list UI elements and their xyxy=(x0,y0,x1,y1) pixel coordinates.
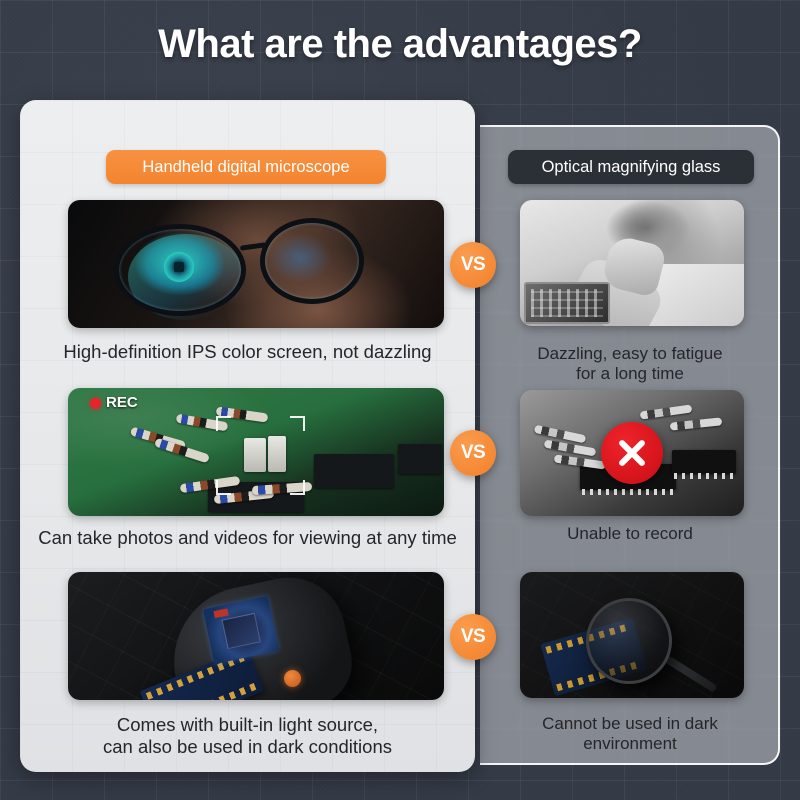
ic-chip-shape xyxy=(398,444,442,474)
vs-badge-row3: VS xyxy=(450,614,496,660)
magnifier-lens-shape xyxy=(586,598,672,684)
ic-chip-shape xyxy=(314,454,394,488)
focus-bracket-top-right-icon xyxy=(290,416,305,431)
row3-right-caption: Cannot be used in dark environment xyxy=(482,714,778,754)
row2-left-caption: Can take photos and videos for viewing a… xyxy=(20,527,475,549)
infographic-canvas: What are the advantages? Handheld digita… xyxy=(0,0,800,800)
rec-indicator-dot-icon xyxy=(90,398,101,409)
glasses-right-lens xyxy=(260,218,364,304)
row3-right-caption-line2: environment xyxy=(482,734,778,754)
resistor-shape xyxy=(670,417,723,430)
header-pill-right-label: Optical magnifying glass xyxy=(542,158,721,177)
focus-bracket-top-left-icon xyxy=(216,416,231,431)
resistor-shape xyxy=(534,425,587,444)
grayscale-circuit-board-illustration xyxy=(520,390,744,516)
header-pill-handheld-microscope: Handheld digital microscope xyxy=(106,150,386,184)
row1-right-caption: Dazzling, easy to fatigue for a long tim… xyxy=(482,344,778,384)
row1-right-image-tired-man xyxy=(520,200,744,326)
page-title: What are the advantages? xyxy=(0,22,800,67)
red-x-circle-icon xyxy=(601,422,663,484)
row3-left-image-microscope-device xyxy=(68,572,444,700)
focus-bracket-bottom-left-icon xyxy=(216,480,231,495)
row1-left-caption: High-definition IPS color screen, not da… xyxy=(20,341,475,363)
vs-badge-row1: VS xyxy=(450,242,496,288)
vs-badge-row2: VS xyxy=(450,430,496,476)
capacitor-shape xyxy=(268,436,286,472)
screen-red-component xyxy=(214,608,229,618)
magnifier-dark-illustration xyxy=(520,572,744,698)
row1-left-image-eyes-glasses xyxy=(68,200,444,328)
row1-right-caption-line2: for a long time xyxy=(482,364,778,384)
row2-right-caption: Unable to record xyxy=(482,524,778,544)
glasses-left-lens xyxy=(114,224,246,316)
row3-right-image-magnifier-dark xyxy=(520,572,744,698)
row3-left-caption: Comes with built-in light source, can al… xyxy=(20,714,475,758)
device-power-button xyxy=(284,670,301,687)
header-pill-left-label: Handheld digital microscope xyxy=(142,158,349,177)
row2-left-image-green-pcb: REC xyxy=(68,388,444,516)
eyes-with-glasses-illustration xyxy=(68,200,444,328)
header-pill-optical-magnifier: Optical magnifying glass xyxy=(508,150,754,184)
row1-right-caption-line1: Dazzling, easy to fatigue xyxy=(482,344,778,364)
focus-bracket-bottom-right-icon xyxy=(290,480,305,495)
green-circuit-board-illustration: REC xyxy=(68,388,444,516)
row2-right-image-gray-pcb xyxy=(520,390,744,516)
ic-chip-shape xyxy=(672,450,736,474)
rec-label: REC xyxy=(106,394,138,411)
row3-right-caption-line1: Cannot be used in dark xyxy=(482,714,778,734)
resistor-shape xyxy=(544,440,597,457)
workbench-board-shape xyxy=(524,282,610,324)
row3-left-caption-line1: Comes with built-in light source, xyxy=(20,714,475,736)
handheld-microscope-illustration xyxy=(68,572,444,700)
capacitor-shape xyxy=(244,438,266,472)
resistor-shape xyxy=(640,404,693,419)
row3-left-caption-line2: can also be used in dark conditions xyxy=(20,736,475,758)
tired-man-illustration xyxy=(520,200,744,326)
